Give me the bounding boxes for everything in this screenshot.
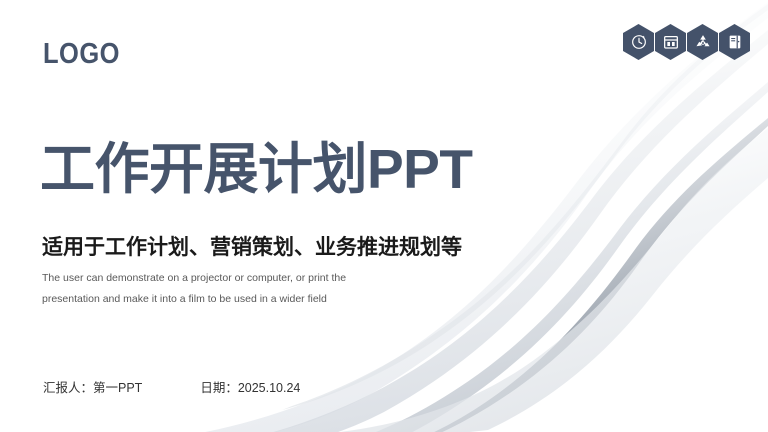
date-label: 日期：2025.10.24: [200, 377, 300, 396]
page-title: 工作开展计划PPT: [40, 141, 472, 199]
hexagon-icon-row: [623, 24, 750, 60]
page-subtitle: 适用于工作计划、营销策划、业务推进规划等: [42, 231, 462, 261]
slide-footer: 汇报人：第一PPT 日期：2025.10.24: [43, 377, 300, 396]
presentation-slide: LOGO: [0, 0, 768, 432]
calendar-icon: [663, 34, 679, 50]
description-line-2: presentation and make it into a film to …: [42, 289, 382, 310]
description-text: The user can demonstrate on a projector …: [42, 268, 382, 310]
logo: LOGO: [43, 38, 120, 71]
book-icon: [727, 34, 743, 50]
hex-badge-clock[interactable]: [623, 24, 654, 60]
description-line-1: The user can demonstrate on a projector …: [42, 268, 382, 289]
hex-badge-calendar[interactable]: [655, 24, 686, 60]
hex-badge-recycle[interactable]: [687, 24, 718, 60]
presenter-label: 汇报人：第一PPT: [43, 377, 142, 396]
clock-icon: [631, 34, 647, 50]
recycle-icon: [695, 34, 711, 50]
hex-badge-book[interactable]: [719, 24, 750, 60]
